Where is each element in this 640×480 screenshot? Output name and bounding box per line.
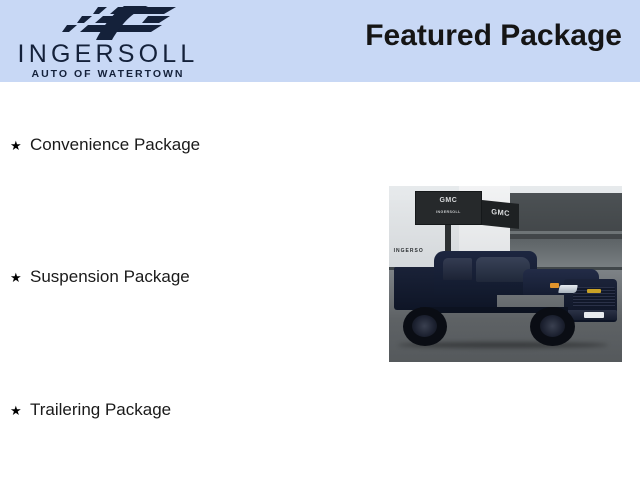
photo-scene: GMC INGERSOLL GMC INGERSO — [389, 186, 622, 362]
truck-front-wheel — [530, 307, 575, 346]
pickup-truck — [394, 249, 618, 348]
feature-label: Suspension Package — [30, 268, 190, 285]
winged-stripes-emblem-icon — [52, 6, 180, 40]
logo-wordmark: INGERSOLL — [8, 42, 208, 67]
vehicle-photo: GMC INGERSOLL GMC INGERSO — [389, 186, 622, 362]
truck-rear-wheel — [403, 307, 448, 346]
truck-windshield — [476, 257, 530, 282]
truck-marker-light — [550, 283, 559, 288]
list-item: ★ Convenience Package — [10, 136, 200, 153]
feature-list: ★ Convenience Package ★ Suspension Packa… — [0, 82, 370, 480]
dealership-pylon-sign: GMC INGERSOLL — [415, 191, 483, 224]
feature-label: Convenience Package — [30, 136, 200, 153]
header-banner: INGERSOLL AUTO OF WATERTOWN Featured Pac… — [0, 0, 640, 82]
feature-label: Trailering Package — [30, 401, 171, 418]
page-title: Featured Package — [365, 19, 622, 53]
star-bullet-icon: ★ — [10, 404, 30, 417]
list-item: ★ Suspension Package — [10, 268, 190, 285]
building-brand-sign: GMC — [482, 200, 519, 229]
star-bullet-icon: ★ — [10, 271, 30, 284]
truck-rear-window — [443, 258, 472, 280]
list-item: ★ Trailering Package — [10, 401, 171, 418]
chevrolet-bowtie-icon — [587, 289, 600, 292]
pylon-sub-label: INGERSOLL — [436, 210, 461, 214]
logo-tagline: AUTO OF WATERTOWN — [8, 69, 208, 80]
building-brand-label: GMC — [491, 207, 510, 218]
truck-license-plate — [584, 312, 604, 318]
dealer-logo: INGERSOLL AUTO OF WATERTOWN — [8, 4, 208, 80]
star-bullet-icon: ★ — [10, 139, 30, 152]
pylon-brand-label: GMC — [439, 197, 457, 204]
truck-headlight — [558, 285, 578, 293]
